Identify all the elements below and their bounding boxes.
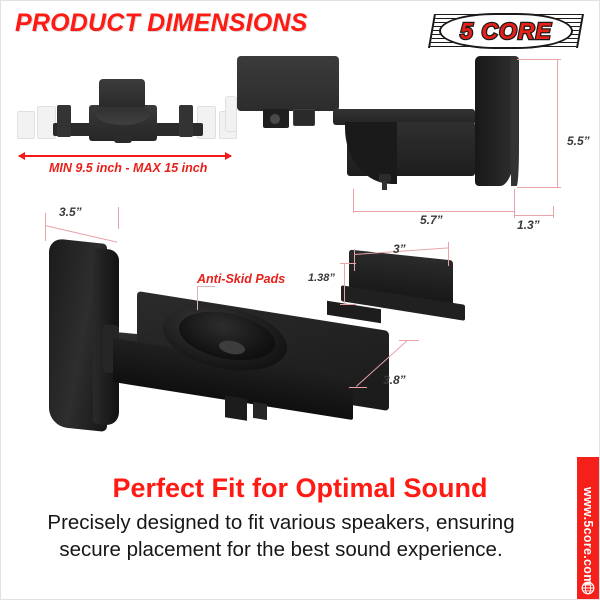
website-side-tab[interactable]: www.5core.com: [577, 457, 599, 600]
clamp-arm-left: [57, 105, 71, 137]
pads-callout-leader-vertical: [197, 286, 198, 310]
footer-body-text: Precisely designed to fit various speake…: [23, 509, 539, 563]
tray-foot: [253, 402, 267, 420]
depth-dimension-label: 5.7”: [420, 213, 443, 227]
height-dimension-line: [557, 59, 558, 187]
pads-callout-label: Anti-Skid Pads: [197, 272, 285, 286]
bracket-width-label: 3”: [393, 242, 406, 256]
infographic-page: PRODUCT DIMENSIONS 5 CORE MIN 9.5 inch -…: [0, 0, 600, 600]
depth-dimension-line: [353, 211, 515, 212]
page-title: PRODUCT DIMENSIONS: [15, 9, 308, 38]
lower-plate-width-label: 3.5”: [59, 205, 82, 219]
bracket-height-tick: [340, 263, 356, 264]
logo-wordmark: 5 CORE: [441, 15, 571, 47]
bracket-height-dimension-line: [344, 263, 345, 305]
plate-thickness-dimension-line: [514, 215, 554, 216]
bracket-height-tick: [340, 304, 356, 305]
plate-thickness-label: 1.3”: [517, 218, 540, 232]
clamp-back-plate: [99, 79, 145, 107]
depth-dimension-tick: [353, 189, 354, 213]
brand-logo: 5 CORE: [431, 14, 581, 48]
mount-screw-tip: [382, 181, 387, 190]
clamp-arm-right: [179, 105, 193, 137]
globe-icon: [581, 581, 595, 595]
plate-thickness-tick: [514, 206, 515, 218]
height-dimension-tick: [517, 187, 561, 188]
top-view-clamp-illustration: [11, 79, 246, 149]
bracket-height-label: 1.38”: [308, 272, 335, 284]
height-dimension-label: 5.5”: [567, 134, 590, 148]
bracket-width-tick: [354, 249, 355, 271]
plate-thickness-tick: [553, 206, 554, 218]
tray-depth-tick: [399, 340, 419, 341]
lower-plate-width-tick: [45, 213, 46, 241]
tray-foot: [225, 395, 247, 420]
minmax-dimension-line: [19, 155, 231, 157]
ghost-arm: [17, 111, 35, 139]
tray-depth-tick: [349, 387, 367, 388]
side-view-mount-illustration: [237, 56, 567, 221]
speaker-box-foot: [293, 109, 315, 126]
lower-assembly-illustration: [41, 233, 461, 443]
clamp-bottom-stub: [114, 135, 132, 143]
speaker-box: [237, 56, 339, 111]
lower-plate-width-tick: [118, 207, 119, 229]
logo-wordmark-wrap: 5 CORE: [441, 15, 571, 47]
speaker-box-knob: [270, 114, 280, 124]
pads-callout-leader-horizontal: [197, 286, 215, 287]
footer-headline: Perfect Fit for Optimal Sound: [1, 473, 599, 504]
bracket-width-tick: [448, 242, 449, 266]
tray-depth-label: 3.8”: [383, 373, 406, 387]
website-url-label: www.5core.com: [577, 461, 599, 600]
ghost-clip: [225, 96, 237, 132]
height-dimension-tick: [517, 59, 561, 60]
minmax-dimension-label: MIN 9.5 inch - MAX 15 inch: [49, 161, 207, 175]
wall-plate-edge: [511, 56, 519, 186]
